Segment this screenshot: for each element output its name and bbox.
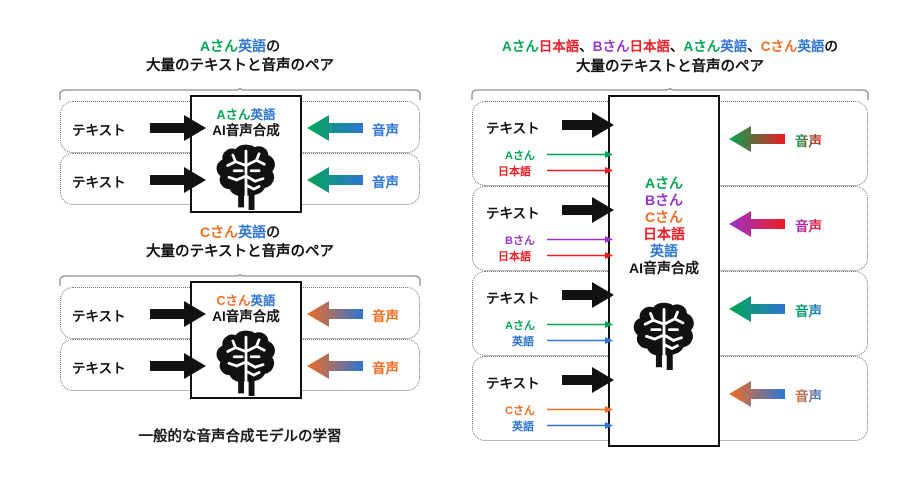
left-panel-1-model-line-2: AI音声合成 xyxy=(192,123,300,139)
left-panel-2-row-2-text-label: テキスト xyxy=(72,357,126,377)
right-panel-row-3-speaker-label: Aさん xyxy=(505,317,535,333)
right-panel-title-part-1: 日本語 xyxy=(539,39,580,54)
right-panel-row-3-text-label: テキスト xyxy=(486,287,540,307)
right-panel-title-part-6: Aさん xyxy=(684,39,721,54)
right-panel-row-4-text-label: テキスト xyxy=(486,372,540,392)
left-panel-2-title: Cさん英語の 大量のテキストと音声のペア xyxy=(60,222,420,263)
right-panel-model-line-4: 英語 xyxy=(610,243,718,260)
left-panel-2-brain-icon xyxy=(213,328,279,396)
right-panel-title-part-10: 英語 xyxy=(798,39,825,54)
right-panel-row-4-speaker-thin-arrow-right-icon xyxy=(547,405,613,414)
right-panel-title-part-2: 、 xyxy=(579,39,593,54)
right-panel-row-2-speaker-thin-arrow-right-icon xyxy=(547,235,613,244)
right-panel-row-1-speaker-thin-arrow-right-icon xyxy=(547,150,613,159)
right-panel-row-1-thick-arrow-left-icon xyxy=(729,126,785,152)
right-panel-row-1-lang-thin-arrow-right-icon xyxy=(547,166,613,175)
right-panel-row-4-speaker-label: Cさん xyxy=(505,402,535,418)
right-panel-title-part-0: Aさん xyxy=(502,39,539,54)
right-panel-row-2-text-label: テキスト xyxy=(486,202,540,222)
left-panel-2-row-1-text-label: テキスト xyxy=(72,305,126,325)
left-panel-2-title-lang: 英語 xyxy=(238,224,266,240)
right-panel-title: Aさん日本語、Bさん日本語、Aさん英語、Cさん英語の 大量のテキストと音声のペア xyxy=(465,36,875,78)
right-panel-row-3-lang-label: 英語 xyxy=(512,333,534,349)
left-section-caption: 一般的な音声合成モデルの学習 xyxy=(60,425,420,446)
right-panel-model-line-1: Bさん xyxy=(610,192,718,209)
left-panel-2-title-line2: 大量のテキストと音声のペア xyxy=(60,242,420,263)
left-panel-2-title-suffix: の xyxy=(266,224,280,240)
left-panel-1-row-1-voice-label: 音声 xyxy=(372,119,399,139)
left-panel-2-row-2-thick-arrow-right-icon xyxy=(150,353,206,379)
right-panel-row-3-lang-thin-arrow-right-icon xyxy=(547,336,613,345)
right-panel-title-part-9: Cさん xyxy=(761,39,798,54)
left-panel-1-title-lang: 英語 xyxy=(238,38,266,54)
left-panel-1-row-2-thick-arrow-right-icon xyxy=(150,167,206,193)
right-panel-row-2-lang-thin-arrow-right-icon xyxy=(547,251,613,260)
right-panel-row-3-thick-arrow-right-icon xyxy=(562,282,614,308)
left-panel-2-model-lang: 英語 xyxy=(251,294,276,308)
right-panel-row-4-thick-arrow-right-icon xyxy=(562,367,614,393)
right-panel-row-1-thick-arrow-right-icon xyxy=(562,112,614,138)
right-panel-row-3-voice-label: 音声 xyxy=(795,300,822,320)
left-panel-2-title-speaker: Cさん xyxy=(200,224,238,240)
right-panel-row-2-speaker-label: Bさん xyxy=(505,232,535,248)
right-panel-model-lines: AさんBさんCさん日本語英語AI音声合成 xyxy=(610,175,718,277)
right-panel-row-4-thick-arrow-left-icon xyxy=(729,381,785,407)
right-panel-model-line-0: Aさん xyxy=(610,175,718,192)
right-panel-row-4-lang-thin-arrow-right-icon xyxy=(547,421,613,430)
right-panel-row-3-speaker-thin-arrow-right-icon xyxy=(547,320,613,329)
left-panel-1-model-speaker: Aさん xyxy=(216,108,250,122)
left-panel-1-title-speaker: Aさん xyxy=(200,38,238,54)
right-panel-row-1-lang-label: 日本語 xyxy=(498,163,531,179)
right-panel-row-4-lang-label: 英語 xyxy=(512,418,534,434)
left-panel-1-title-line2: 大量のテキストと音声のペア xyxy=(60,56,420,77)
right-panel-model-line-5: AI音声合成 xyxy=(610,260,718,277)
left-panel-1-model-lang: 英語 xyxy=(251,108,276,122)
left-panel-2-row-1-thick-arrow-right-icon xyxy=(150,301,206,327)
right-panel-title-part-3: Bさん xyxy=(593,39,630,54)
right-panel-row-2-thick-arrow-left-icon xyxy=(729,211,785,237)
right-panel-row-1-voice-label: 音声 xyxy=(795,130,822,150)
right-panel-brain-icon xyxy=(630,300,698,370)
left-panel-1-row-1-thick-arrow-left-icon xyxy=(307,115,363,141)
right-panel-row-1-speaker-label: Aさん xyxy=(505,147,535,163)
left-panel-1-title-suffix: の xyxy=(266,38,280,54)
right-panel-title-part-8: 、 xyxy=(747,39,761,54)
left-panel-2-row-2-thick-arrow-left-icon xyxy=(307,353,363,379)
right-panel-title-part-11: の xyxy=(825,39,839,54)
right-panel-row-2-thick-arrow-right-icon xyxy=(562,197,614,223)
right-panel-row-2-lang-label: 日本語 xyxy=(498,248,531,264)
right-panel-row-3-thick-arrow-left-icon xyxy=(729,296,785,322)
left-panel-1-row-1-thick-arrow-right-icon xyxy=(150,115,206,141)
left-panel-1-row-2-voice-label: 音声 xyxy=(372,171,399,191)
right-panel-model-box: AさんBさんCさん日本語英語AI音声合成 xyxy=(608,95,720,447)
right-panel-row-4-voice-label: 音声 xyxy=(795,385,822,405)
diagram-canvas: Aさん英語の 大量のテキストと音声のペア テキスト テキスト Aさん英語 AI音… xyxy=(0,0,900,490)
right-panel-title-line1: Aさん日本語、Bさん日本語、Aさん英語、Cさん英語の xyxy=(502,39,838,54)
left-panel-2-model-line-1: Cさん英語 xyxy=(192,294,300,309)
left-panel-2-row-1-thick-arrow-left-icon xyxy=(307,301,363,327)
left-panel-1-title: Aさん英語の 大量のテキストと音声のペア xyxy=(60,36,420,77)
left-panel-1-row-1-text-label: テキスト xyxy=(72,119,126,139)
right-panel-model-line-2: Cさん xyxy=(610,209,718,226)
right-panel-title-part-5: 、 xyxy=(670,39,684,54)
right-panel-row-1-text-label: テキスト xyxy=(486,117,540,137)
right-panel-title-part-7: 英語 xyxy=(720,39,747,54)
right-panel-title-line2: 大量のテキストと音声のペア xyxy=(465,57,875,78)
right-panel-model-line-3: 日本語 xyxy=(610,226,718,243)
right-panel-row-2-voice-label: 音声 xyxy=(795,215,822,235)
left-panel-2-row-2-voice-label: 音声 xyxy=(372,357,399,377)
left-panel-1-brain-icon xyxy=(213,142,279,210)
right-panel-title-part-4: 日本語 xyxy=(630,39,671,54)
left-panel-1-row-2-thick-arrow-left-icon xyxy=(307,167,363,193)
left-panel-1-row-2-text-label: テキスト xyxy=(72,171,126,191)
left-panel-2-row-1-voice-label: 音声 xyxy=(372,305,399,325)
left-panel-2-model-line-2: AI音声合成 xyxy=(192,309,300,325)
left-panel-2-model-speaker: Cさん xyxy=(216,294,250,308)
left-panel-1-model-line-1: Aさん英語 xyxy=(192,108,300,123)
